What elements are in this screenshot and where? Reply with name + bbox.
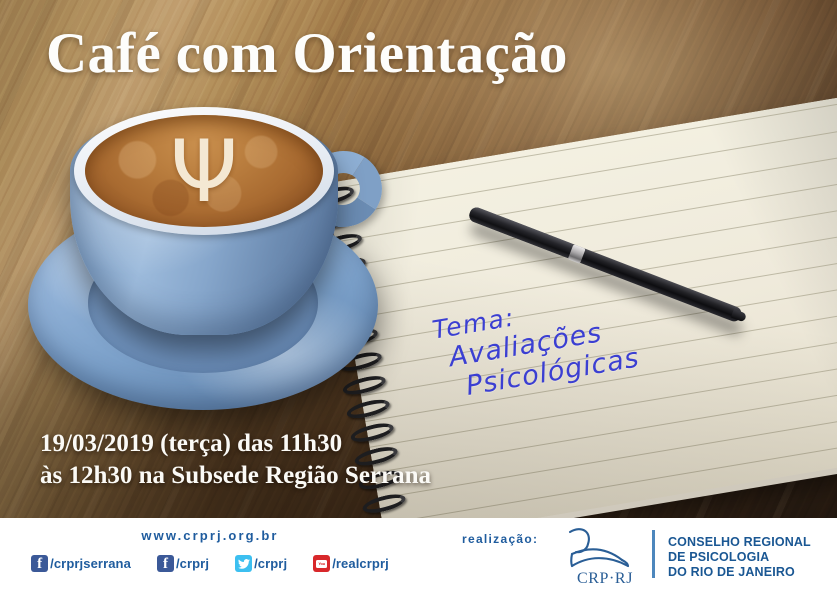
coffee-cup-and-saucer: Ψ [28,95,388,425]
footer-contact-section: www.crprj.org.br f /crprjserrana f /crpr… [0,518,440,600]
logo-acronym: CRP·RJ [564,570,646,588]
bird-swoosh-icon [560,526,646,574]
org-name-line1: CONSELHO REGIONAL [668,535,811,550]
social-link-twitter-crprj[interactable]: /crprj [235,555,287,572]
social-link-facebook-crprj[interactable]: f /crprj [157,555,209,572]
event-poster: Tema: Avaliações Psicológicas Ψ Café com… [0,0,837,600]
twitter-icon [235,555,252,572]
cappuccino-surface: Ψ [85,115,323,227]
poster-footer: www.crprj.org.br f /crprjserrana f /crpr… [0,518,837,600]
org-name-line2: DE PSICOLOGIA [668,550,811,565]
website-url[interactable]: www.crprj.org.br [0,528,420,543]
social-handle: /crprj [176,556,209,571]
social-links: f /crprjserrana f /crprj [0,555,420,572]
facebook-icon: f [157,555,174,572]
youtube-icon: You [313,555,330,572]
social-handle: /crprj [254,556,287,571]
event-location-line: às 12h30 na Subsede Região Serrana [40,460,431,492]
social-link-facebook-serrana[interactable]: f /crprjserrana [31,555,131,572]
crprj-logo: CRP·RJ CONSELHO REGIONAL DE PSICOLOGIA D… [560,526,811,588]
footer-organizer-section: realização: CRP·RJ CONSELHO REGIONAL [440,518,837,600]
realizacao-label: realização: [462,532,538,546]
poster-title: Café com Orientação [46,22,568,86]
event-date-line: 19/03/2019 (terça) das 11h30 [40,428,431,460]
event-details: 19/03/2019 (terça) das 11h30 às 12h30 na… [40,428,431,492]
facebook-icon: f [31,555,48,572]
logo-divider [652,530,655,578]
social-handle: /realcrprj [332,556,389,571]
crprj-logo-mark: CRP·RJ [560,526,646,588]
social-handle: /crprjserrana [50,556,131,571]
org-name-line3: DO RIO DE JANEIRO [668,565,811,580]
organization-name: CONSELHO REGIONAL DE PSICOLOGIA DO RIO D… [668,535,811,580]
psi-latte-art-icon: Ψ [85,118,323,226]
social-link-youtube-crprj[interactable]: You /realcrprj [313,555,389,572]
